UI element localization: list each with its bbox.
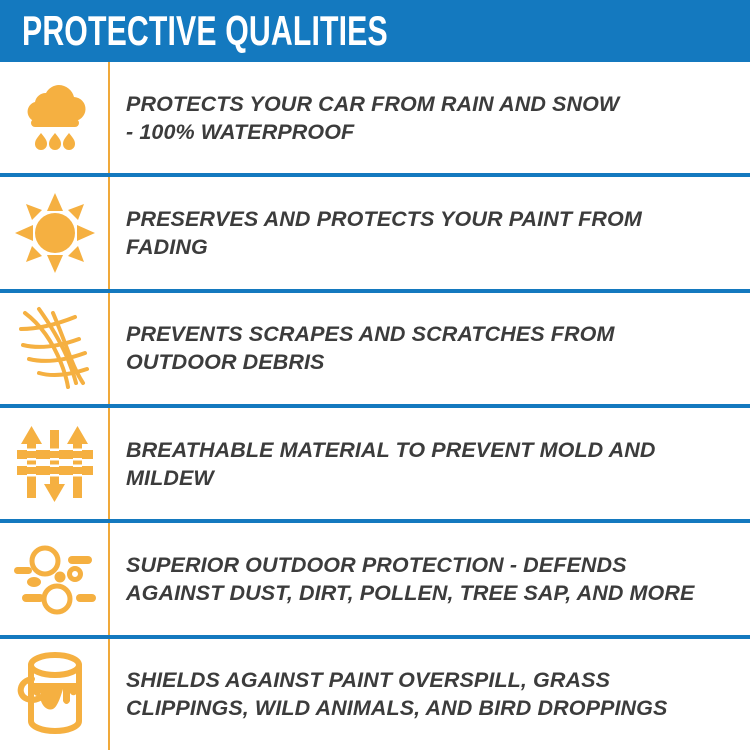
feature-row: PRESERVES AND PROTECTS YOUR PAINT FROM F… — [0, 173, 750, 288]
header-banner: PROTECTIVE QUALITIES — [0, 0, 750, 62]
cloud-rain-icon — [13, 76, 97, 160]
feature-line-2: MILDEW — [126, 466, 214, 490]
feature-line-2: - 100% WATERPROOF — [126, 120, 354, 144]
paint-can-icon — [15, 649, 95, 739]
icon-cell — [0, 293, 110, 404]
feature-text: SUPERIOR OUTDOOR PROTECTION - DEFENDS AG… — [126, 551, 694, 607]
dust-particles-icon — [12, 539, 98, 619]
breathable-airflow-icon — [15, 422, 95, 506]
feature-text: PRESERVES AND PROTECTS YOUR PAINT FROM F… — [126, 205, 642, 261]
icon-cell — [0, 639, 110, 750]
text-cell: PREVENTS SCRAPES AND SCRATCHES FROM OUTD… — [110, 293, 750, 404]
feature-row: PREVENTS SCRAPES AND SCRATCHES FROM OUTD… — [0, 289, 750, 404]
feature-line-2: FADING — [126, 235, 208, 259]
feature-text: PROTECTS YOUR CAR FROM RAIN AND SNOW - 1… — [126, 90, 619, 146]
protective-qualities-infographic: PROTECTIVE QUALITIES PROTECTS YOUR CAR F… — [0, 0, 750, 750]
feature-line-1: SHIELDS AGAINST PAINT OVERSPILL, GRASS — [126, 668, 610, 692]
feature-text: SHIELDS AGAINST PAINT OVERSPILL, GRASS C… — [126, 666, 667, 722]
icon-cell — [0, 408, 110, 519]
sun-icon — [13, 191, 97, 275]
feature-line-1: PROTECTS YOUR CAR FROM RAIN AND SNOW — [126, 92, 619, 116]
feature-text: BREATHABLE MATERIAL TO PREVENT MOLD AND … — [126, 436, 655, 492]
scratch-mesh-icon — [13, 303, 97, 393]
feature-row: SHIELDS AGAINST PAINT OVERSPILL, GRASS C… — [0, 635, 750, 750]
feature-line-1: PREVENTS SCRAPES AND SCRATCHES FROM — [126, 322, 615, 346]
icon-cell — [0, 62, 110, 173]
text-cell: BREATHABLE MATERIAL TO PREVENT MOLD AND … — [110, 408, 750, 519]
text-cell: SHIELDS AGAINST PAINT OVERSPILL, GRASS C… — [110, 639, 750, 750]
feature-line-1: BREATHABLE MATERIAL TO PREVENT MOLD AND — [126, 438, 655, 462]
feature-line-2: OUTDOOR DEBRIS — [126, 350, 325, 374]
feature-row: BREATHABLE MATERIAL TO PREVENT MOLD AND … — [0, 404, 750, 519]
feature-line-1: PRESERVES AND PROTECTS YOUR PAINT FROM — [126, 207, 642, 231]
feature-line-2: CLIPPINGS, WILD ANIMALS, AND BIRD DROPPI… — [126, 696, 667, 720]
feature-row: PROTECTS YOUR CAR FROM RAIN AND SNOW - 1… — [0, 62, 750, 173]
text-cell: PRESERVES AND PROTECTS YOUR PAINT FROM F… — [110, 177, 750, 288]
feature-list: PROTECTS YOUR CAR FROM RAIN AND SNOW - 1… — [0, 62, 750, 750]
icon-cell — [0, 177, 110, 288]
text-cell: SUPERIOR OUTDOOR PROTECTION - DEFENDS AG… — [110, 523, 750, 634]
feature-line-1: SUPERIOR OUTDOOR PROTECTION - DEFENDS — [126, 553, 627, 577]
icon-cell — [0, 523, 110, 634]
feature-line-2: AGAINST DUST, DIRT, POLLEN, TREE SAP, AN… — [126, 581, 694, 605]
feature-text: PREVENTS SCRAPES AND SCRATCHES FROM OUTD… — [126, 320, 615, 376]
text-cell: PROTECTS YOUR CAR FROM RAIN AND SNOW - 1… — [110, 62, 750, 173]
page-title: PROTECTIVE QUALITIES — [22, 10, 388, 52]
feature-row: SUPERIOR OUTDOOR PROTECTION - DEFENDS AG… — [0, 519, 750, 634]
